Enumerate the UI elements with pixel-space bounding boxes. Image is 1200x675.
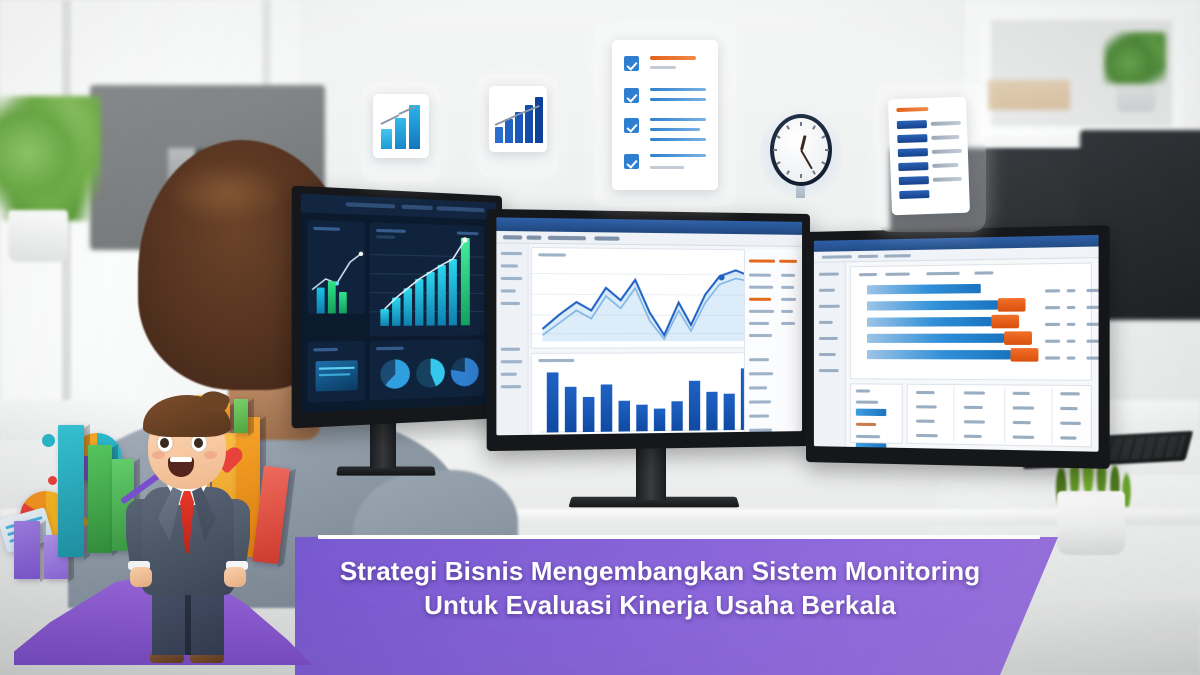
clock-face — [774, 118, 828, 182]
floating-growth-card-dark[interactable] — [478, 74, 558, 178]
dark-chart-panel-small — [308, 220, 366, 313]
center-monitor-screen[interactable] — [496, 217, 802, 435]
title-line-2: Untuk Evaluasi Kinerja Usaha Berkala — [295, 589, 1025, 623]
checklist-icon — [612, 40, 718, 190]
3d-infographic-decor — [0, 375, 330, 675]
decor-bar — [14, 521, 40, 579]
right-legend-panel — [850, 383, 903, 444]
wall-clock — [766, 110, 836, 198]
person-hair-highlight — [166, 162, 286, 224]
bar-chart-growth-icon — [489, 86, 547, 152]
floating-report-card[interactable] — [876, 84, 986, 232]
dark-panel-gauges — [370, 339, 485, 400]
decor-bar — [88, 445, 112, 553]
right-monitor-screen[interactable] — [814, 235, 1099, 452]
center-trend-lines — [532, 248, 758, 350]
center-line-chart-card — [531, 247, 757, 349]
right-progress-panel — [850, 262, 1092, 380]
center-monitor[interactable] — [487, 209, 810, 451]
banner-divider — [318, 535, 1040, 539]
hero-banner-scene: Strategi Bisnis Mengembangkan Sistem Mon… — [0, 0, 1200, 675]
mascot-cheek — [152, 451, 165, 459]
mascot-cheek — [204, 451, 217, 459]
page-title: Strategi Bisnis Mengembangkan Sistem Mon… — [295, 555, 1025, 623]
right-monitor[interactable] — [806, 225, 1110, 469]
desk-plant-left-pot — [8, 210, 68, 262]
center-sidebar[interactable] — [496, 243, 528, 435]
checkbox-item[interactable] — [624, 118, 639, 133]
left-monitor-screen[interactable] — [301, 194, 496, 413]
center-app-menubar — [496, 231, 802, 247]
center-data-table[interactable] — [744, 249, 802, 432]
right-data-grid[interactable] — [907, 384, 1092, 448]
desk-plant-left-leaves — [0, 96, 101, 221]
center-bar-chart-card — [531, 352, 757, 435]
floating-checklist-card[interactable] — [594, 22, 736, 206]
decor-bar — [58, 425, 84, 557]
shelf-plant-leaves — [1104, 32, 1166, 84]
mascot-hand — [130, 567, 152, 587]
decor-dot — [42, 434, 55, 447]
checkbox-item[interactable] — [624, 56, 639, 71]
floating-growth-card-light[interactable] — [362, 82, 440, 182]
checkbox-item[interactable] — [624, 88, 639, 103]
mascot-hand — [224, 567, 246, 587]
bar-chart-growth-icon — [373, 94, 429, 158]
businessman-mascot — [128, 395, 248, 667]
title-line-1: Strategi Bisnis Mengembangkan Sistem Mon… — [295, 555, 1025, 589]
right-sidebar[interactable] — [814, 262, 846, 446]
dark-chart-panel-main — [370, 222, 485, 336]
mascot-legs — [152, 587, 224, 655]
decor-dot — [48, 476, 57, 485]
shelf-books — [988, 80, 1070, 110]
checkbox-item[interactable] — [624, 154, 639, 169]
dark-overlay-trend — [370, 222, 485, 336]
document-list-icon — [888, 97, 970, 216]
